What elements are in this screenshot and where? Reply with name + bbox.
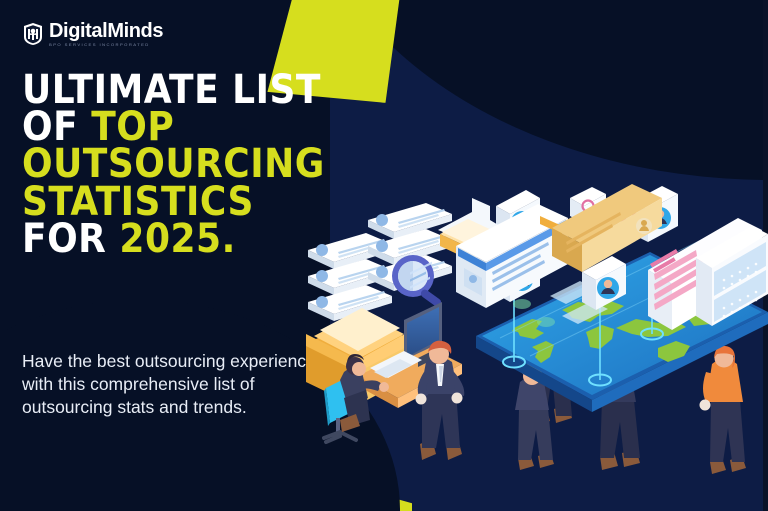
brand-tagline: BPO SERVICES INCORPORATED bbox=[49, 43, 163, 47]
brand-logo-text: DigitalMinds BPO SERVICES INCORPORATED bbox=[49, 21, 163, 47]
headline-year: 2025. bbox=[119, 216, 235, 262]
digitalminds-mark-icon bbox=[22, 22, 44, 46]
subheading-text: Have the best outsourcing experience wit… bbox=[22, 350, 322, 418]
resume-cards-grid bbox=[308, 203, 452, 321]
brand-logo: DigitalMinds BPO SERVICES INCORPORATED bbox=[22, 21, 163, 47]
headline-for: FOR bbox=[22, 216, 106, 262]
infographic-poster: DigitalMinds BPO SERVICES INCORPORATED U… bbox=[0, 0, 768, 511]
outsourcing-illustration bbox=[300, 176, 768, 496]
standing-woman-orange bbox=[700, 346, 747, 474]
brand-name: DigitalMinds bbox=[49, 21, 163, 41]
